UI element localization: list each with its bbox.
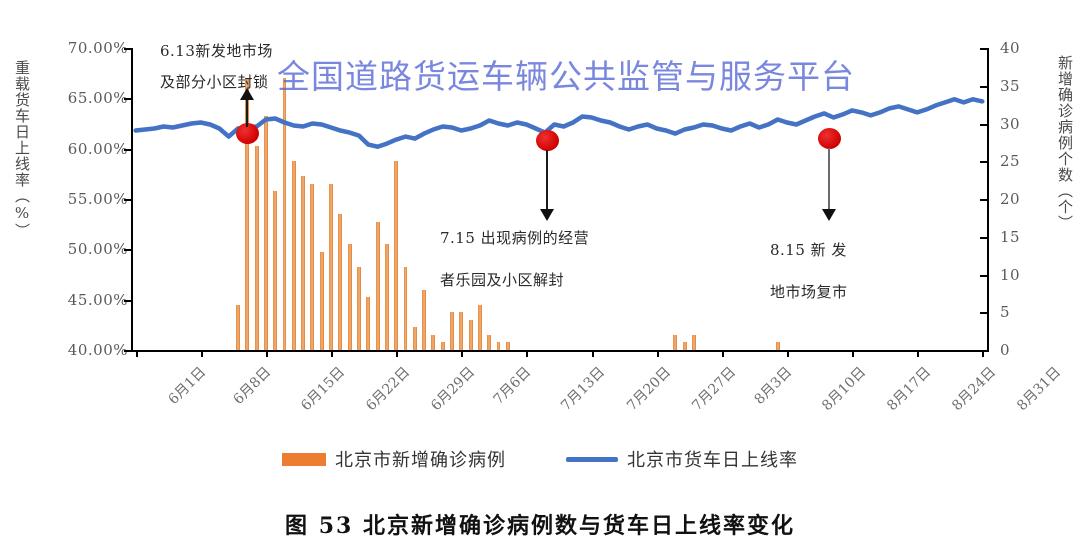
annotation-2-line1: 7.15 出现病例的经营	[440, 228, 589, 250]
annotation-3-line2: 地市场复市	[770, 282, 848, 304]
left-axis-title: 重载货车日上线率（%）	[14, 60, 29, 340]
right-tick-label: 5	[1000, 303, 1010, 321]
legend-label-cases: 北京市新增确诊病例	[335, 446, 506, 472]
left-tick-label: 50.00%	[68, 240, 128, 258]
right-tick-label: 0	[1000, 341, 1010, 359]
x-tick-label: 8月17日	[882, 362, 935, 415]
x-tick-label: 6月15日	[296, 362, 349, 415]
x-tickmark	[396, 350, 398, 357]
x-tick-label: 8月3日	[749, 362, 796, 409]
x-tick-label: 6月8日	[228, 362, 275, 409]
annotation-arrowhead-2	[540, 209, 554, 221]
left-tick-label: 70.00%	[68, 39, 128, 57]
x-tickmark	[592, 350, 594, 357]
x-tickmark	[722, 350, 724, 357]
annotation-leader-1	[246, 97, 248, 127]
right-tickmark	[980, 350, 989, 352]
annotation-1-line1: 6.13新发地市场	[160, 41, 273, 63]
right-tick-label: 25	[1000, 152, 1020, 170]
left-tick-label: 55.00%	[68, 190, 128, 208]
right-tick-label: 10	[1000, 266, 1020, 284]
annotation-1-line2: 及部分小区封锁	[160, 72, 269, 94]
left-tick-label: 60.00%	[68, 140, 128, 158]
left-tick-label: 65.00%	[68, 89, 128, 107]
x-tick-label: 8月10日	[817, 362, 870, 415]
legend-item-cases: 北京市新增确诊病例	[282, 446, 506, 472]
chart-canvas: 重载货车日上线率（%） 新增确诊病例个数（个） 70.00%65.00%60.0…	[0, 0, 1080, 560]
legend-label-online-rate: 北京市货车日上线率	[627, 446, 798, 472]
right-tick-label: 35	[1000, 77, 1020, 95]
left-tick-label: 45.00%	[68, 291, 128, 309]
figure-caption: 图 53 北京新增确诊病例数与货车日上线率变化	[0, 508, 1080, 540]
left-tickmark	[124, 350, 132, 352]
left-axis-ticks: 70.00%65.00%60.00%55.00%50.00%45.00%40.0…	[36, 0, 128, 560]
x-tickmark	[331, 350, 333, 357]
right-tick-label: 20	[1000, 190, 1020, 208]
left-tick-label: 40.00%	[68, 341, 128, 359]
x-tickmark	[526, 350, 528, 357]
legend-swatch-bar-icon	[282, 453, 326, 466]
annotation-arrowhead-3	[822, 209, 836, 221]
x-tickmark	[266, 350, 268, 357]
x-tickmark	[852, 350, 854, 357]
x-tick-label: 7月13日	[556, 362, 609, 415]
x-tickmark	[787, 350, 789, 357]
x-tick-label: 7月27日	[687, 362, 740, 415]
right-axis-title: 新增确诊病例个数（个）	[1057, 55, 1072, 355]
event-marker-dot-3	[818, 128, 841, 149]
x-tick-label: 6月22日	[361, 362, 414, 415]
x-tickmark	[657, 350, 659, 357]
legend-swatch-line-icon	[566, 457, 618, 462]
x-tickmark	[982, 350, 984, 357]
watermark-text: 全国道路货运车辆公共监管与服务平台	[277, 50, 855, 98]
annotation-leader-3	[828, 148, 830, 210]
x-tick-label: 8月24日	[947, 362, 1000, 415]
annotation-leader-2	[546, 150, 548, 210]
x-axis-line	[131, 350, 989, 352]
x-tick-label: 7月6日	[489, 362, 536, 409]
right-tick-label: 15	[1000, 228, 1020, 246]
right-axis-ticks: 4035302520151050	[1000, 0, 1040, 560]
x-tickmark	[136, 350, 138, 357]
x-tick-label: 7月20日	[622, 362, 675, 415]
chart-legend: 北京市新增确诊病例 北京市货车日上线率	[0, 446, 1080, 472]
right-tick-label: 40	[1000, 39, 1020, 57]
x-tickmark	[917, 350, 919, 357]
annotation-3-line1: 8.15 新 发	[770, 240, 847, 262]
legend-item-online-rate: 北京市货车日上线率	[566, 446, 798, 472]
x-tick-label: 6月1日	[163, 362, 210, 409]
x-tickmark	[461, 350, 463, 357]
right-tick-label: 30	[1000, 115, 1020, 133]
x-tick-label: 6月29日	[426, 362, 479, 415]
event-marker-dot-2	[536, 130, 559, 151]
annotation-2-line2: 者乐园及小区解封	[440, 270, 564, 292]
x-tickmark	[201, 350, 203, 357]
